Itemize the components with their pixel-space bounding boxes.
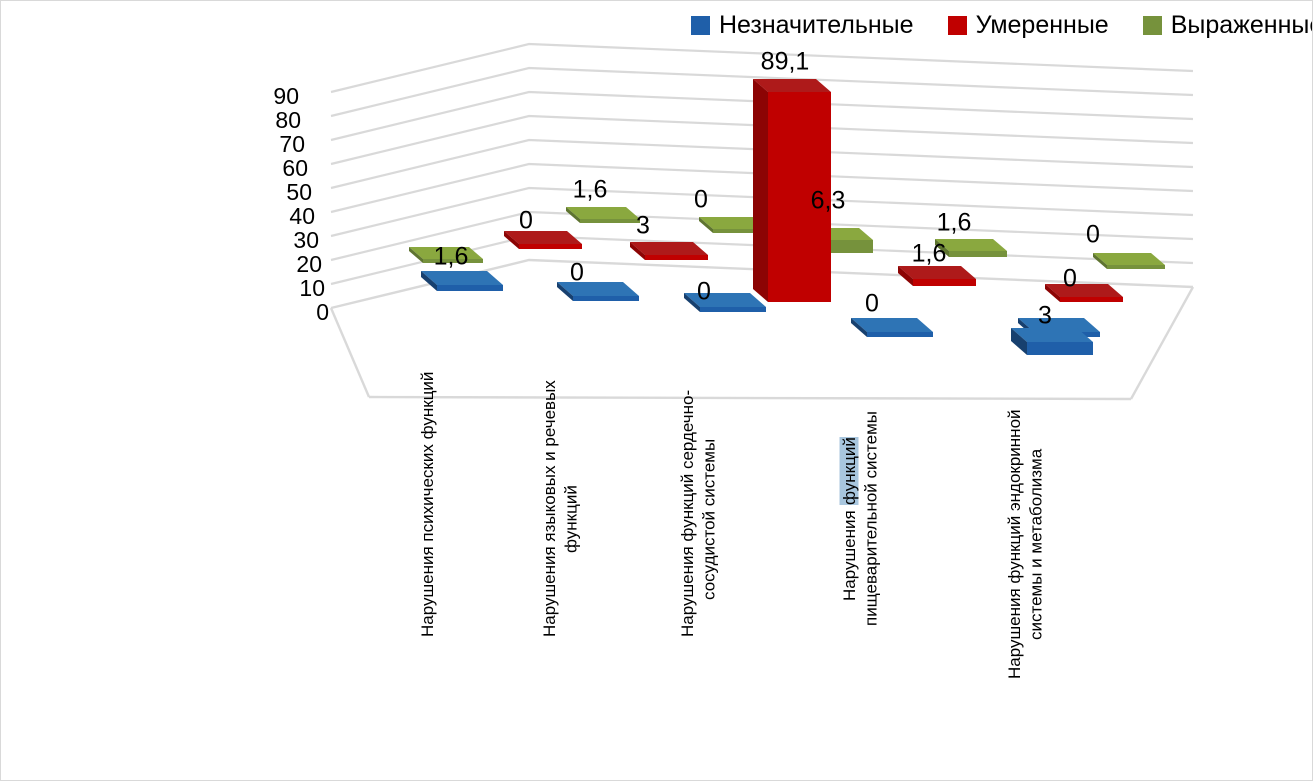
category-label-2: Нарушения функций сердечно- сосудистой с… (677, 401, 720, 637)
legend-item-insignificant[interactable]: Незначительные (691, 13, 914, 38)
value-label-c3-green: 1,6 (937, 211, 972, 236)
value-label-c4-blue: 3 (1038, 304, 1052, 329)
legend-label-moderate: Умеренные (976, 13, 1109, 38)
y-tick-90: 90 (273, 85, 299, 108)
legend-swatch-blue-icon (691, 16, 710, 35)
chart-container: Незначительные Умеренные Выраженные 90 8… (0, 0, 1313, 781)
bar-c1-red[interactable] (504, 231, 582, 249)
legend-swatch-green-icon (1143, 16, 1162, 35)
y-axis: 90 80 70 60 50 40 30 20 10 0 (277, 85, 325, 303)
y-tick-30: 30 (293, 229, 319, 252)
category-label-1: Нарушения языковых и речевых функций (539, 401, 582, 637)
category-label-3: Нарушения функций пищеварительной систем… (839, 401, 882, 637)
bar-c5-blue[interactable] (1011, 328, 1093, 355)
category-label-4-line1: Нарушения функций эндокринной (1004, 401, 1025, 687)
value-label-c1-green: 0 (694, 188, 708, 213)
bar-c5-red[interactable] (1045, 284, 1123, 302)
bar-c0-blue[interactable] (421, 271, 503, 291)
category-label-3-line1: Нарушения функций (839, 401, 860, 637)
category-label-4-line2: системы и метаболизма (1025, 401, 1046, 687)
category-label-2-line1: Нарушения функций сердечно- (677, 401, 698, 637)
legend-label-insignificant: Незначительные (719, 13, 914, 38)
plot-area (1, 1, 1313, 781)
category-label-1-line2: функций (560, 401, 581, 637)
value-label-c3-blue: 0 (865, 292, 879, 317)
legend-label-pronounced: Выраженные (1171, 13, 1313, 38)
category-label-4: Нарушения функций эндокринной системы и … (1004, 401, 1047, 687)
value-label-c4-red: 0 (1063, 267, 1077, 292)
value-label-c3-red: 1,6 (912, 242, 947, 267)
bar-c0-red[interactable] (397, 273, 471, 286)
y-tick-70: 70 (279, 133, 305, 156)
bar-c3-green[interactable] (801, 228, 873, 253)
chart-legend: Незначительные Умеренные Выраженные (691, 9, 1301, 41)
value-label-c0-red: 0 (519, 209, 533, 234)
bar-c2-red[interactable] (630, 242, 708, 260)
bar-c5-green[interactable] (1093, 253, 1165, 269)
y-tick-50: 50 (286, 181, 312, 204)
legend-item-moderate[interactable]: Умеренные (948, 13, 1109, 38)
bar-c4-red[interactable] (898, 266, 976, 286)
category-label-3-highlight: функций (840, 437, 859, 505)
bar-c2-green[interactable] (699, 217, 773, 233)
y-tick-40: 40 (289, 205, 315, 228)
y-tick-20: 20 (296, 253, 322, 276)
value-label-c2-red: 89,1 (761, 50, 810, 75)
value-label-c2-blue: 0 (697, 280, 711, 305)
legend-swatch-red-icon (948, 16, 967, 35)
value-label-c2-green: 6,3 (811, 189, 846, 214)
value-label-c4-green: 0 (1086, 223, 1100, 248)
bar-c1-green[interactable] (566, 207, 640, 223)
y-tick-10: 10 (299, 277, 325, 300)
y-tick-80: 80 (275, 109, 301, 132)
category-label-3-line2: пищеварительной системы (860, 401, 881, 637)
bar-c4-blue[interactable] (1018, 318, 1100, 337)
value-label-c0-green: 1,6 (573, 178, 608, 203)
y-tick-0: 0 (316, 301, 329, 324)
value-label-c1-blue: 0 (570, 261, 584, 286)
value-label-c1-red: 3 (636, 214, 650, 239)
category-label-0-line1: Нарушения психических функций (417, 401, 438, 637)
category-label-0: Нарушения психических функций (417, 401, 438, 637)
bar-c3-blue[interactable] (851, 318, 933, 337)
y-tick-60: 60 (282, 157, 308, 180)
legend-item-pronounced[interactable]: Выраженные (1143, 13, 1313, 38)
category-label-2-line2: сосудистой системы (698, 401, 719, 637)
category-label-1-line1: Нарушения языковых и речевых (539, 401, 560, 637)
category-label-3-line1-prefix: Нарушения (840, 505, 859, 600)
value-label-c0-blue: 1,6 (434, 245, 469, 270)
